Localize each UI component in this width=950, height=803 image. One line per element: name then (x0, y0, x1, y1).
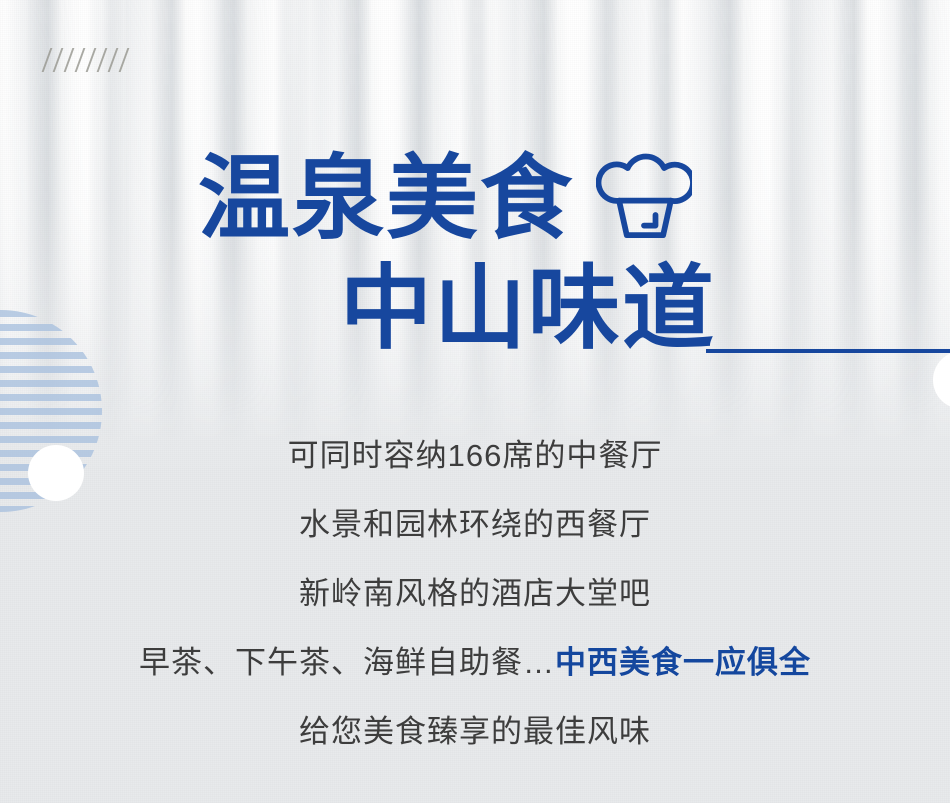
body-line-5: 给您美食臻享的最佳风味 (0, 716, 950, 747)
slash-mark-2 (53, 48, 64, 72)
slash-mark-3 (64, 48, 75, 72)
body-line-4-text: 早茶、下午茶、海鲜自助餐… (139, 645, 555, 680)
body-line-4-accent: 中西美食一应俱全 (555, 645, 811, 680)
poster-canvas: 温泉美食 中山味道 可同时容纳166席的中餐厅 水景和园林环绕的西餐厅 新岭南风… (0, 0, 950, 803)
body-line-2: 水景和园林环绕的西餐厅 (0, 509, 950, 540)
slash-decoration (46, 48, 125, 72)
body-copy-block: 可同时容纳166席的中餐厅 水景和园林环绕的西餐厅 新岭南风格的酒店大堂吧 早茶… (0, 440, 950, 747)
body-line-3: 新岭南风格的酒店大堂吧 (0, 578, 950, 609)
body-line-4: 早茶、下午茶、海鲜自助餐…中西美食一应俱全 (0, 647, 950, 678)
body-line-1: 可同时容纳166席的中餐厅 (0, 440, 950, 471)
headline-line-1-row: 温泉美食 (198, 153, 692, 245)
slash-mark-6 (97, 48, 108, 72)
headline-underline (706, 349, 950, 353)
slash-mark-7 (108, 48, 119, 72)
slash-mark-4 (75, 48, 86, 72)
slash-mark-5 (86, 48, 97, 72)
headline-line-2: 中山味道 (340, 263, 716, 355)
chef-hat-icon (596, 147, 692, 239)
headline-line-1: 温泉美食 (198, 153, 574, 245)
